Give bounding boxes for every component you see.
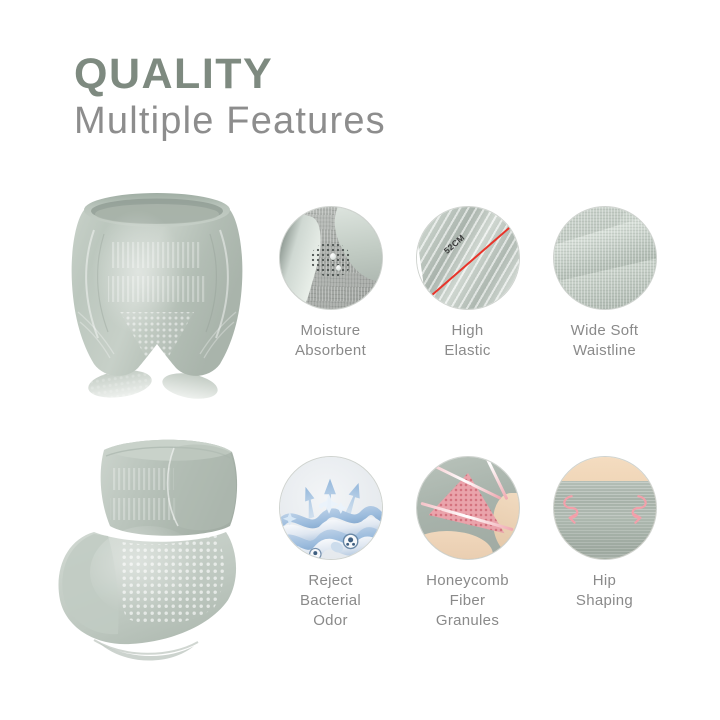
feature-hip-shaping[interactable]: Hip Shaping — [536, 456, 673, 630]
page-title: QUALITY — [74, 52, 386, 97]
high-elastic-icon: 52CM — [416, 206, 520, 310]
product-image-back — [38, 422, 278, 666]
feature-label: Wide Soft Waistline — [571, 321, 639, 361]
feature-reject-bacterial-odor[interactable]: Reject Bacterial Odor — [262, 456, 399, 630]
feature-label: High Elastic — [444, 321, 490, 361]
feature-honeycomb-fiber-granules[interactable]: Honeycomb Fiber Granules — [399, 456, 536, 630]
feature-label: Moisture Absorbent — [295, 321, 366, 361]
product-image-front — [42, 172, 272, 400]
feature-label: Hip Shaping — [576, 571, 633, 611]
feature-row-top: Moisture Absorbent 52CM High Elastic Wid… — [262, 206, 674, 361]
feature-wide-soft-waistline[interactable]: Wide Soft Waistline — [536, 206, 673, 361]
reject-bacterial-odor-icon — [279, 456, 383, 560]
honeycomb-fiber-granules-icon — [416, 456, 520, 560]
feature-label: Reject Bacterial Odor — [300, 571, 361, 630]
heading-block: QUALITY Multiple Features — [74, 52, 386, 144]
page-subtitle: Multiple Features — [74, 99, 386, 144]
moisture-absorbent-icon — [279, 206, 383, 310]
wide-soft-waistline-icon — [553, 206, 657, 310]
feature-high-elastic[interactable]: 52CM High Elastic — [399, 206, 536, 361]
feature-row-bottom: Reject Bacterial Odor Honeycomb Fiber Gr… — [262, 456, 674, 630]
feature-label: Honeycomb Fiber Granules — [426, 571, 509, 630]
feature-moisture-absorbent[interactable]: Moisture Absorbent — [262, 206, 399, 361]
hip-shaping-icon — [553, 456, 657, 560]
